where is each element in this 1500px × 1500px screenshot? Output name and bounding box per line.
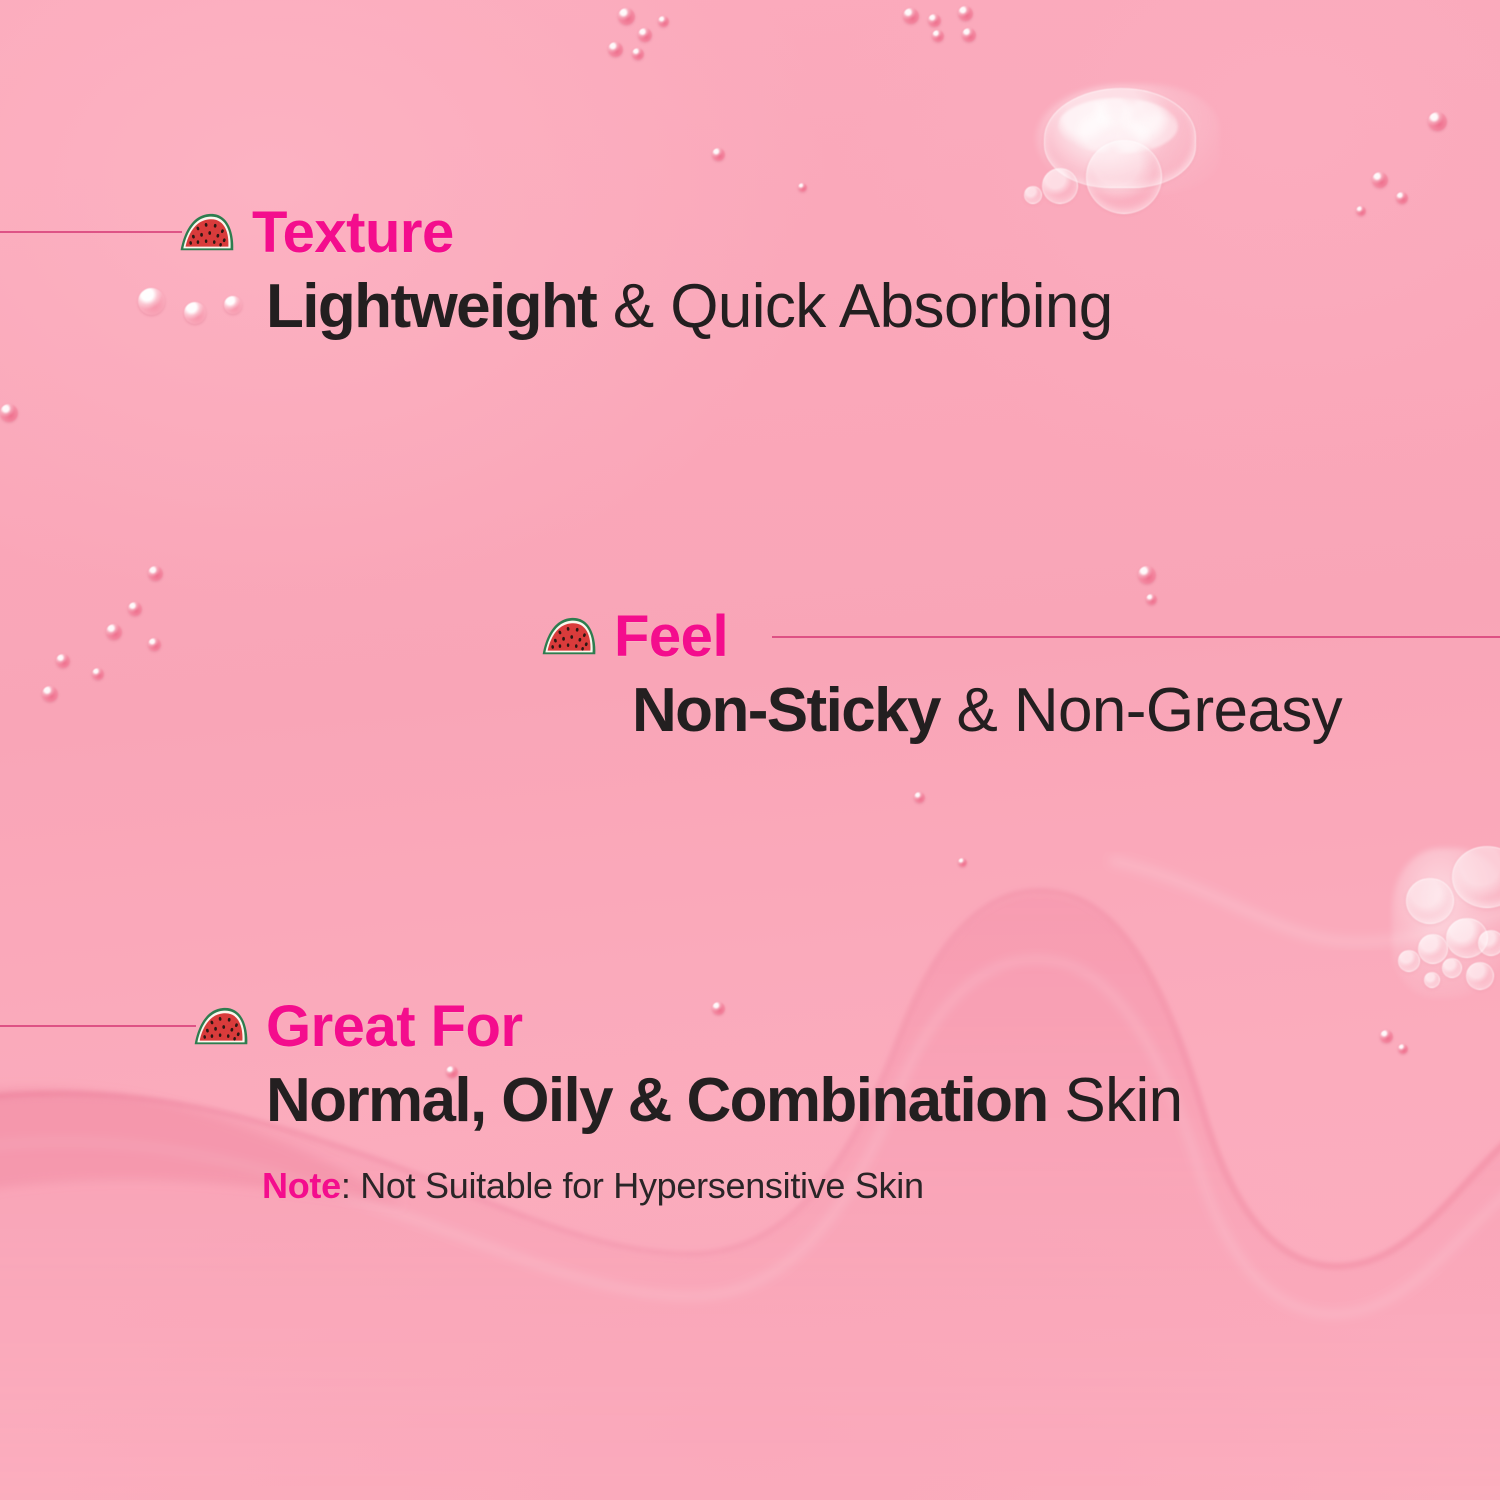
gel-foam-texture bbox=[1058, 98, 1178, 154]
water-droplet bbox=[712, 148, 725, 161]
feature-great-for-detail-light: Skin bbox=[1048, 1066, 1183, 1135]
water-droplet bbox=[148, 566, 163, 581]
water-droplet bbox=[712, 1002, 725, 1015]
connector-line-great-for bbox=[0, 1025, 196, 1027]
feature-feel-detail: Non-Sticky & Non-Greasy bbox=[632, 680, 1342, 742]
watermelon-slice-icon bbox=[178, 210, 236, 256]
water-droplet bbox=[1398, 1044, 1408, 1054]
water-droplet bbox=[1428, 112, 1447, 131]
product-feature-infographic: Texture Lightweight & Quick Absorbing bbox=[0, 0, 1500, 1500]
water-droplet bbox=[0, 404, 18, 422]
water-droplet bbox=[148, 638, 161, 651]
feature-texture-heading: Texture bbox=[178, 204, 454, 262]
feature-great-for-note: Note: Not Suitable for Hypersensitive Sk… bbox=[262, 1168, 924, 1204]
water-droplet bbox=[128, 602, 142, 616]
feature-feel-heading: Feel bbox=[540, 608, 728, 666]
watermelon-slice-icon bbox=[192, 1004, 250, 1050]
feature-great-for-detail-strong: Normal, Oily & Combination bbox=[266, 1066, 1048, 1135]
connector-line-texture bbox=[0, 231, 182, 233]
gel-bubble bbox=[1466, 962, 1494, 990]
water-droplet bbox=[958, 858, 967, 867]
water-droplet bbox=[106, 624, 122, 640]
gel-bubble bbox=[1024, 186, 1042, 204]
water-droplet bbox=[1146, 594, 1157, 605]
water-droplet bbox=[798, 183, 807, 192]
water-droplet bbox=[608, 42, 623, 57]
note-label: Note bbox=[262, 1165, 341, 1206]
gel-bubble bbox=[1418, 934, 1448, 964]
feature-texture-detail-strong: Lightweight bbox=[266, 272, 596, 341]
feature-feel-kicker: Feel bbox=[614, 608, 728, 666]
gel-bubble bbox=[1442, 958, 1462, 978]
water-droplet bbox=[92, 668, 104, 680]
water-droplet bbox=[903, 8, 919, 24]
water-droplet bbox=[1356, 206, 1366, 216]
water-droplet bbox=[1372, 172, 1388, 188]
water-droplet bbox=[932, 30, 944, 42]
water-droplet bbox=[224, 296, 242, 314]
feature-texture-detail: Lightweight & Quick Absorbing bbox=[266, 276, 1113, 338]
water-droplet bbox=[914, 792, 925, 803]
water-droplet bbox=[928, 14, 941, 27]
water-droplet bbox=[56, 654, 70, 668]
feature-great-for-heading: Great For bbox=[192, 998, 523, 1056]
feature-texture-kicker: Texture bbox=[252, 204, 454, 262]
watermelon-slice-icon bbox=[540, 614, 598, 660]
water-droplet bbox=[618, 8, 635, 25]
water-droplet bbox=[138, 288, 165, 315]
note-text: : Not Suitable for Hypersensitive Skin bbox=[341, 1165, 924, 1206]
feature-feel-detail-strong: Non-Sticky bbox=[632, 676, 940, 745]
water-droplet bbox=[638, 28, 652, 42]
water-droplet bbox=[632, 48, 644, 60]
feature-feel-detail-light: & Non-Greasy bbox=[940, 676, 1342, 745]
gel-bubble bbox=[1398, 950, 1420, 972]
water-droplet bbox=[658, 16, 669, 27]
water-droplet bbox=[958, 6, 973, 21]
gel-bubble bbox=[1478, 930, 1500, 956]
water-droplet bbox=[184, 302, 206, 324]
feature-texture-detail-light: & Quick Absorbing bbox=[596, 272, 1112, 341]
connector-line-feel bbox=[772, 636, 1500, 638]
feature-great-for-kicker: Great For bbox=[266, 998, 523, 1056]
water-droplet bbox=[1380, 1030, 1393, 1043]
water-droplet bbox=[962, 28, 976, 42]
feature-great-for-detail: Normal, Oily & Combination Skin bbox=[266, 1070, 1183, 1132]
gel-bubble bbox=[1406, 878, 1454, 924]
water-droplet bbox=[1396, 192, 1408, 204]
gel-bubble bbox=[1424, 972, 1440, 988]
water-droplet bbox=[42, 686, 58, 702]
gel-bubble bbox=[1042, 168, 1078, 204]
water-droplet bbox=[1138, 566, 1156, 584]
